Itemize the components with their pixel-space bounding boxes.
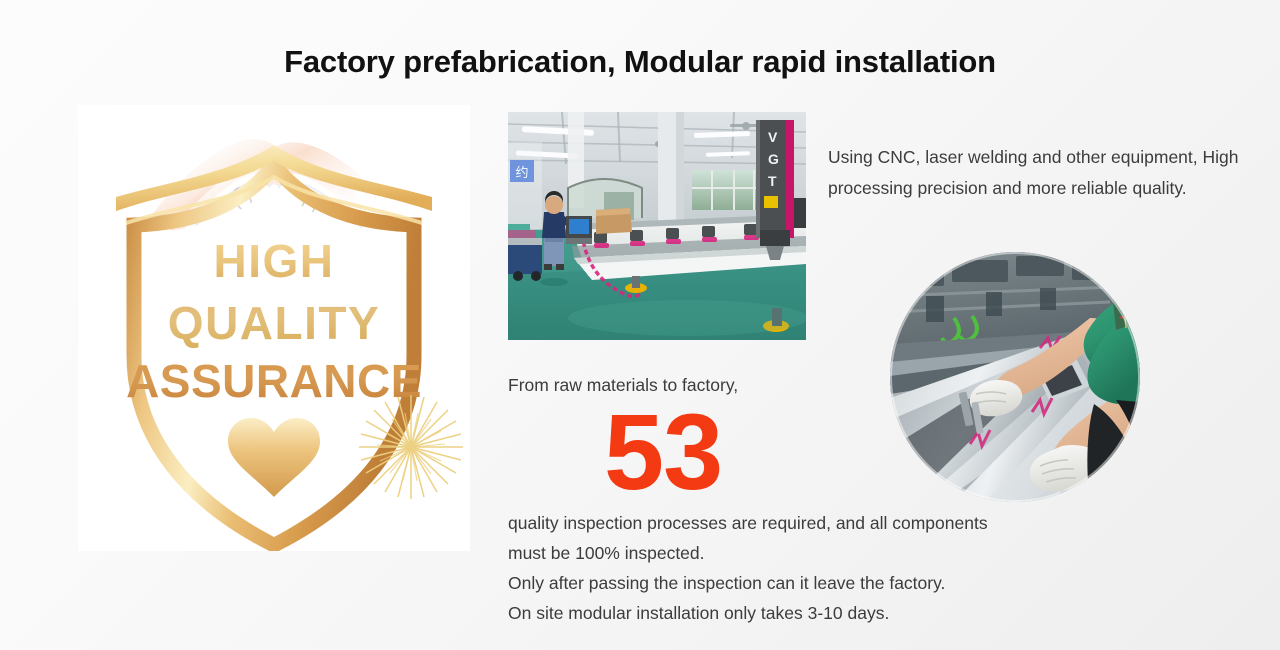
badge-line-3: ASSURANCE xyxy=(126,355,422,407)
bottom-line-3: Only after passing the inspection can it… xyxy=(508,568,1148,598)
cnc-line-1: Using CNC, laser welding and other equip… xyxy=(828,147,1198,167)
inspection-count-number: 53 xyxy=(604,398,722,506)
factory-workshop-photo: 约 xyxy=(508,112,806,340)
quality-badge-panel: HIGH QUALITY ASSURANCE xyxy=(78,105,470,551)
machine-label-line1: V xyxy=(768,129,778,145)
firework-burst-icon xyxy=(359,395,463,499)
shield-outline-icon: HIGH QUALITY ASSURANCE xyxy=(78,105,470,551)
badge-line-2: QUALITY xyxy=(168,297,380,349)
bottom-line-4: On site modular installation only takes … xyxy=(508,598,1148,628)
worker-inspection-photo xyxy=(890,252,1140,502)
page-title: Factory prefabrication, Modular rapid in… xyxy=(0,44,1280,80)
inspection-description: quality inspection processes are require… xyxy=(508,508,1148,628)
bottom-line-1: quality inspection processes are require… xyxy=(508,508,1148,538)
machine-label-line3: T xyxy=(768,173,777,189)
slide-root: Factory prefabrication, Modular rapid in… xyxy=(0,0,1280,650)
machine-label-line2: G xyxy=(768,151,779,167)
badge-line-1: HIGH xyxy=(214,235,335,287)
bottom-line-2: must be 100% inspected. xyxy=(508,538,1148,568)
cnc-description: Using CNC, laser welding and other equip… xyxy=(828,142,1258,204)
cnc-line-3: quality. xyxy=(1132,178,1186,198)
